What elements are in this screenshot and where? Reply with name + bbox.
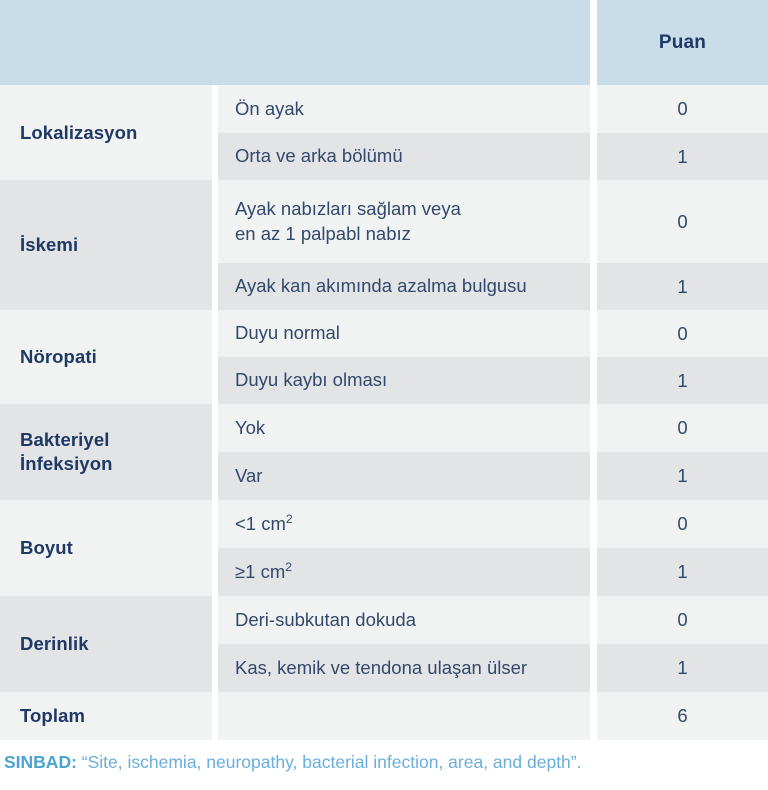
row-score: 0 bbox=[597, 180, 768, 263]
superscript-two: 2 bbox=[286, 512, 293, 526]
row-score: 1 bbox=[597, 263, 768, 310]
group-label-text: Boyut bbox=[20, 536, 73, 560]
row-description: Ayak kan akımında azalma bulgusu bbox=[218, 263, 590, 310]
group-label-text: Derinlik bbox=[20, 632, 89, 656]
total-description bbox=[218, 692, 590, 740]
table-header-blank-cell bbox=[0, 0, 590, 85]
row-description: Yok bbox=[218, 404, 590, 452]
table-header-score-cell: Puan bbox=[597, 0, 768, 85]
group-label-bakteriyel-infeksiyon: Bakteriyel İnfeksiyon bbox=[0, 404, 212, 500]
group-label-lokalizasyon: Lokalizasyon bbox=[0, 85, 212, 180]
row-score: 0 bbox=[597, 500, 768, 548]
row-score: 0 bbox=[597, 85, 768, 133]
row-description: Duyu kaybı olması bbox=[218, 357, 590, 404]
total-score: 6 bbox=[597, 692, 768, 740]
row-description-text: Ayak nabızları sağlam veya en az 1 palpa… bbox=[235, 197, 461, 246]
row-description-text: <1 cm2 bbox=[235, 512, 293, 536]
group-label-text: Bakteriyel İnfeksiyon bbox=[20, 428, 113, 475]
row-description: Ön ayak bbox=[218, 85, 590, 133]
footnote-text: “Site, ischemia, neuropathy, bacterial i… bbox=[82, 752, 582, 772]
row-description: Orta ve arka bölümü bbox=[218, 133, 590, 180]
row-description: ≥1 cm2 bbox=[218, 548, 590, 596]
total-label: Toplam bbox=[0, 692, 212, 740]
row-score: 1 bbox=[597, 357, 768, 404]
sinbad-score-table: Puan Lokalizasyon Ön ayak 0 Orta ve arka… bbox=[0, 0, 768, 790]
group-label-text: İskemi bbox=[20, 233, 78, 257]
footnote-abbreviation: SINBAD: bbox=[4, 752, 77, 772]
row-description: Deri-subkutan dokuda bbox=[218, 596, 590, 644]
superscript-two: 2 bbox=[285, 560, 292, 574]
row-description: Var bbox=[218, 452, 590, 500]
row-score: 1 bbox=[597, 644, 768, 692]
row-description-text: ≥1 cm2 bbox=[235, 560, 292, 584]
group-label-text: Lokalizasyon bbox=[20, 121, 137, 145]
row-description: Duyu normal bbox=[218, 310, 590, 357]
footnote: SINBAD: “Site, ischemia, neuropathy, bac… bbox=[4, 752, 768, 773]
row-description: Kas, kemik ve tendona ulaşan ülser bbox=[218, 644, 590, 692]
row-description: Ayak nabızları sağlam veya en az 1 palpa… bbox=[218, 180, 590, 263]
row-score: 1 bbox=[597, 548, 768, 596]
group-label-derinlik: Derinlik bbox=[0, 596, 212, 692]
row-score: 1 bbox=[597, 133, 768, 180]
row-score: 0 bbox=[597, 596, 768, 644]
row-score: 1 bbox=[597, 452, 768, 500]
group-label-iskemi: İskemi bbox=[0, 180, 212, 310]
group-label-noropati: Nöropati bbox=[0, 310, 212, 404]
row-score: 0 bbox=[597, 404, 768, 452]
row-score: 0 bbox=[597, 310, 768, 357]
group-label-boyut: Boyut bbox=[0, 500, 212, 596]
row-description: <1 cm2 bbox=[218, 500, 590, 548]
total-label-text: Toplam bbox=[20, 704, 85, 728]
group-label-text: Nöropati bbox=[20, 345, 97, 369]
